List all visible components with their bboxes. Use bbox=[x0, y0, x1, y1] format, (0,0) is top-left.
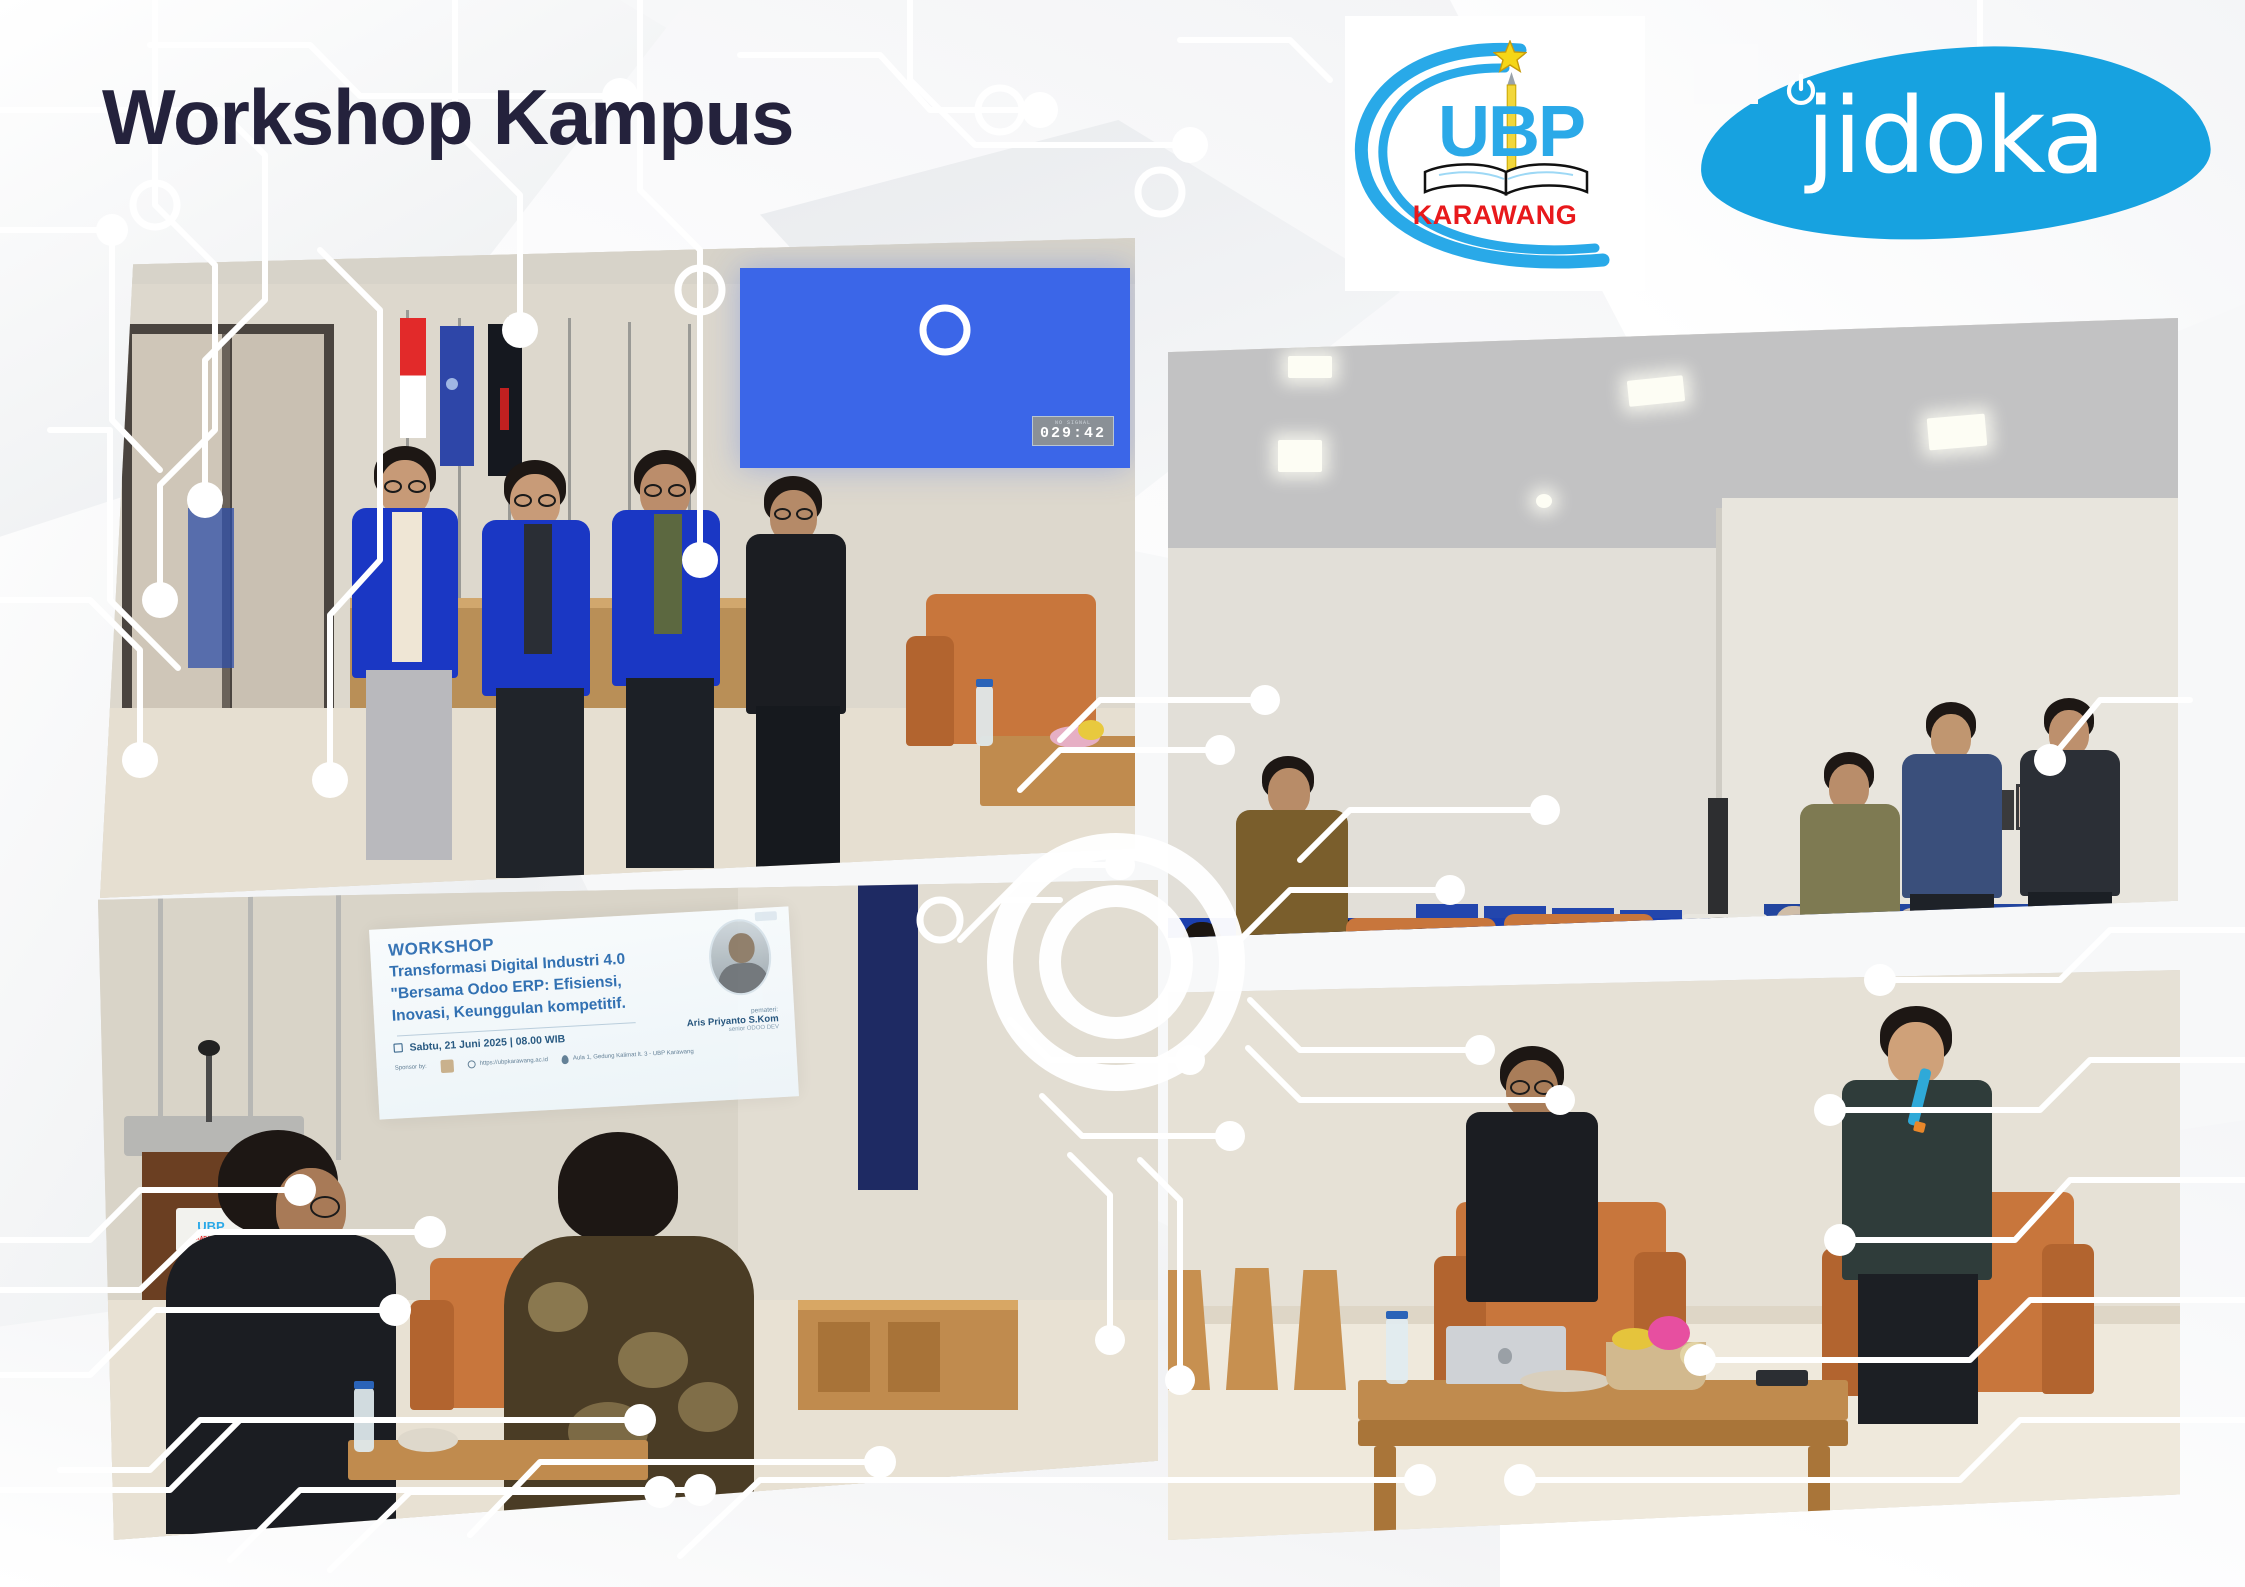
slide-url: https://ubpkarawang.ac.id bbox=[479, 1056, 548, 1068]
slide-datetime: Sabtu, 21 Juni 2025 | 08.00 WIB bbox=[409, 1033, 565, 1054]
photo-bottom-left-scene: UBP KARAWANG WORKSHOP Transformasi Digit… bbox=[98, 880, 1158, 1540]
slide-sponsor-label: Sponsor by: bbox=[395, 1063, 427, 1073]
photo-top-left-scene: NO SIGNAL 029:42 bbox=[100, 238, 1135, 898]
jidoka-logo: jidoka bbox=[1700, 48, 2210, 238]
star-icon bbox=[1493, 40, 1527, 74]
slide-location: Aula 1, Gedung Kalimat lt. 3 - UBP Karaw… bbox=[573, 1048, 694, 1063]
slide-logo-badge bbox=[755, 911, 777, 921]
ubp-acronym: UBP bbox=[1431, 96, 1591, 168]
photo-bottom-left: UBP KARAWANG WORKSHOP Transformasi Digit… bbox=[98, 880, 1158, 1540]
calendar-icon bbox=[393, 1043, 402, 1052]
photo-bottom-right-scene bbox=[1168, 970, 2180, 1540]
photo-bottom-right bbox=[1168, 970, 2180, 1540]
workshop-banner-slide: WORKSHOP Transformasi Digital Industri 4… bbox=[369, 906, 799, 1119]
projector-osd-timer: 029:42 bbox=[1040, 426, 1106, 441]
projector-osd: NO SIGNAL 029:42 bbox=[1032, 416, 1114, 446]
page-title: Workshop Kampus bbox=[102, 78, 793, 156]
photo-top-right-scene bbox=[1168, 318, 2178, 938]
phone bbox=[1756, 1370, 1808, 1386]
ubp-city: KARAWANG bbox=[1345, 200, 1645, 231]
photo-top-right bbox=[1168, 318, 2178, 938]
map-pin-icon bbox=[562, 1055, 569, 1064]
open-book-icon bbox=[1421, 162, 1591, 204]
power-button-icon bbox=[1784, 74, 1818, 108]
slide-sponsor-mark bbox=[440, 1059, 454, 1073]
jidoka-wordmark: jidoka bbox=[1700, 84, 2210, 188]
globe-icon bbox=[468, 1060, 476, 1068]
photo-top-left: NO SIGNAL 029:42 bbox=[100, 238, 1135, 898]
ubp-karawang-logo: UBP KARAWANG bbox=[1345, 16, 1645, 291]
